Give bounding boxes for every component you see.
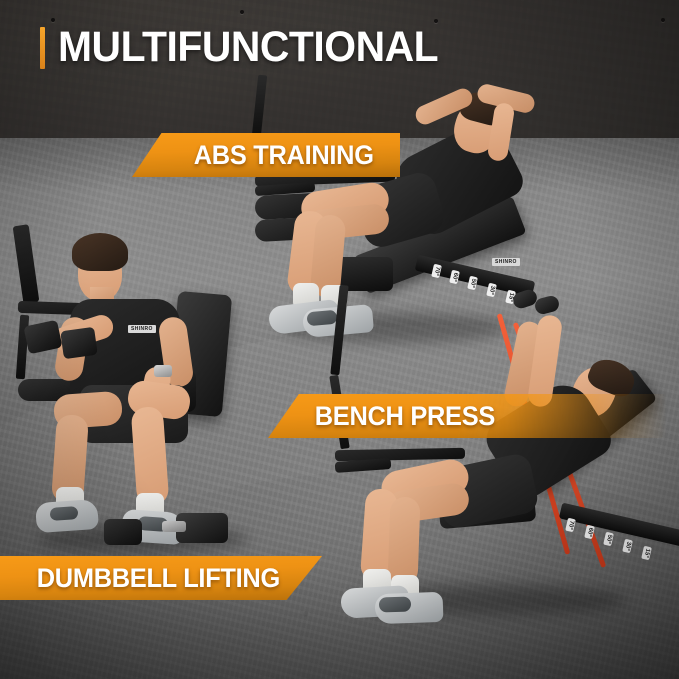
headline: MULTIFUNCTIONAL [40,26,458,69]
wall-bolt-icon [240,10,244,14]
label-bench-press: BENCH PRESS [268,394,679,438]
bench-angle-marker: 70° [565,518,576,533]
label-dumbbell-lifting: DUMBBELL LIFTING [0,556,322,600]
headline-text: MULTIFUNCTIONAL [58,26,438,69]
bench-angle-rail [559,503,679,548]
wall-bolt-icon [661,18,665,22]
bench-press-scene: SHINRO 70° 60° 50° 30° 15° [335,285,679,625]
label-abs-training: ABS TRAINING [132,133,400,177]
athlete-shin-far [387,497,420,586]
athlete-shin [131,406,170,506]
band-handle [533,294,560,315]
label-bench-press-text: BENCH PRESS [315,401,495,432]
shoe-accent [379,596,412,612]
bench-angle-marker: 60° [449,270,460,285]
product-feature-banner: 70° 60° 50° 30° 15° SHINRO [0,0,679,679]
bench-angle-marker: 50° [603,532,614,547]
wall-bolt-icon [51,18,55,22]
headline-accent-bar [40,27,45,69]
shoe-accent [50,506,79,521]
label-abs-training-text: ABS TRAINING [194,140,374,171]
bench-front-leg [252,75,267,138]
label-dumbbell-lifting-text: DUMBBELL LIFTING [37,563,280,594]
dumbbell-lifting-scene: SHINRO [18,225,288,565]
floor-dumbbell-bar [162,521,186,532]
shirt-brand-logo: SHINRO [128,325,156,333]
floor-dumbbell [104,519,142,545]
bench-angle-marker: 30° [622,539,633,554]
bench-angle-marker: 15° [641,546,652,561]
athlete-hair [72,233,128,271]
wristwatch [154,365,172,377]
bench-brand-logo: SHINRO [492,258,520,266]
dumbbell-held [60,327,98,359]
